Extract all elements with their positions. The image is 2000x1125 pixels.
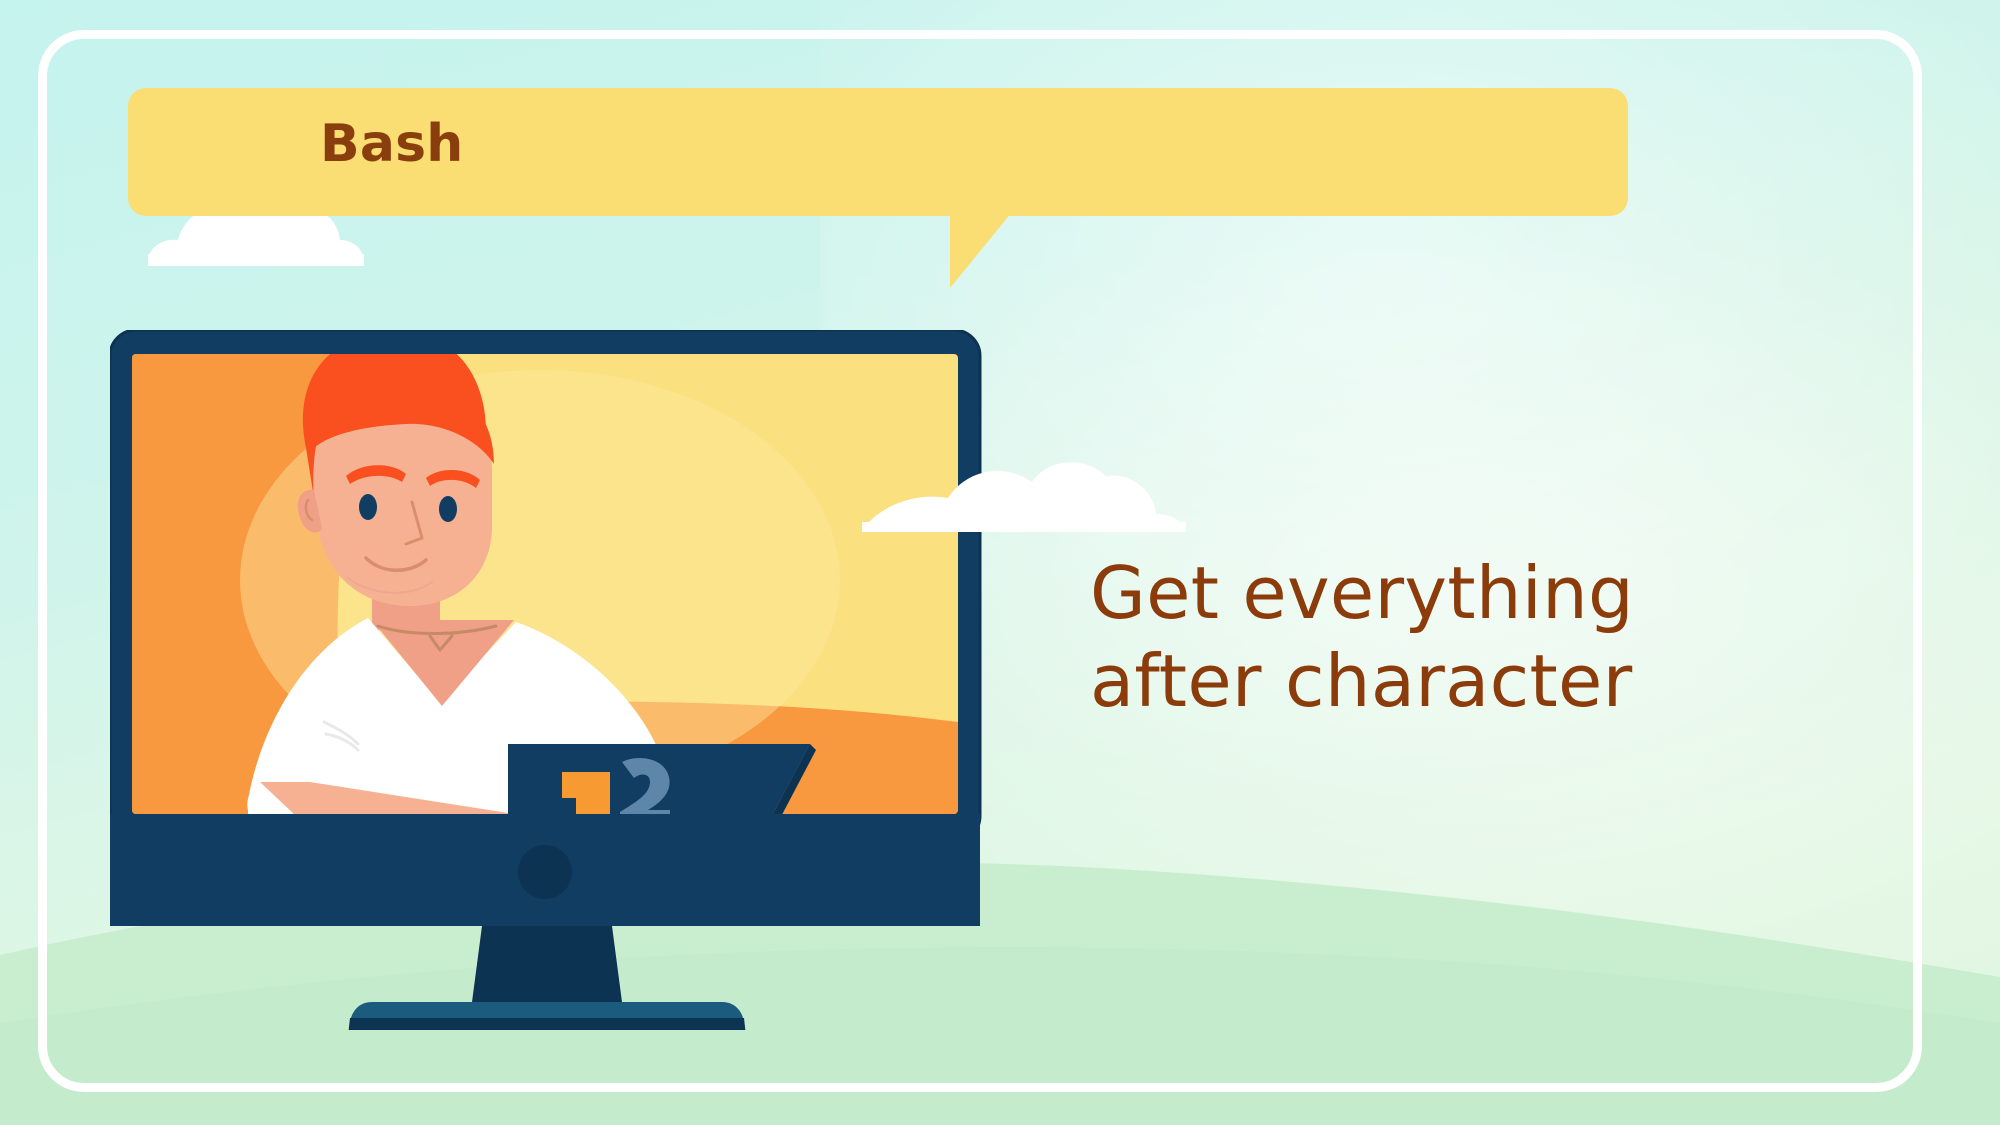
cloud-right: [862, 448, 1192, 538]
monitor-stand-base-front: [348, 1018, 746, 1030]
speech-bubble-tail: [950, 212, 1070, 302]
illustration-woman-at-computer: [110, 330, 1010, 1030]
monitor-stand-neck: [472, 926, 622, 1002]
eye-left: [359, 494, 377, 520]
headline: Get everything after character: [1090, 550, 1750, 726]
speech-bubble-label: Bash: [320, 118, 464, 170]
headline-line-2: after character: [1090, 638, 1750, 726]
monitor-camera-dot: [518, 845, 572, 899]
headline-line-1: Get everything: [1090, 550, 1750, 638]
eye-right: [439, 496, 457, 522]
slide-canvas: Bash Get everything after character: [0, 0, 2000, 1125]
